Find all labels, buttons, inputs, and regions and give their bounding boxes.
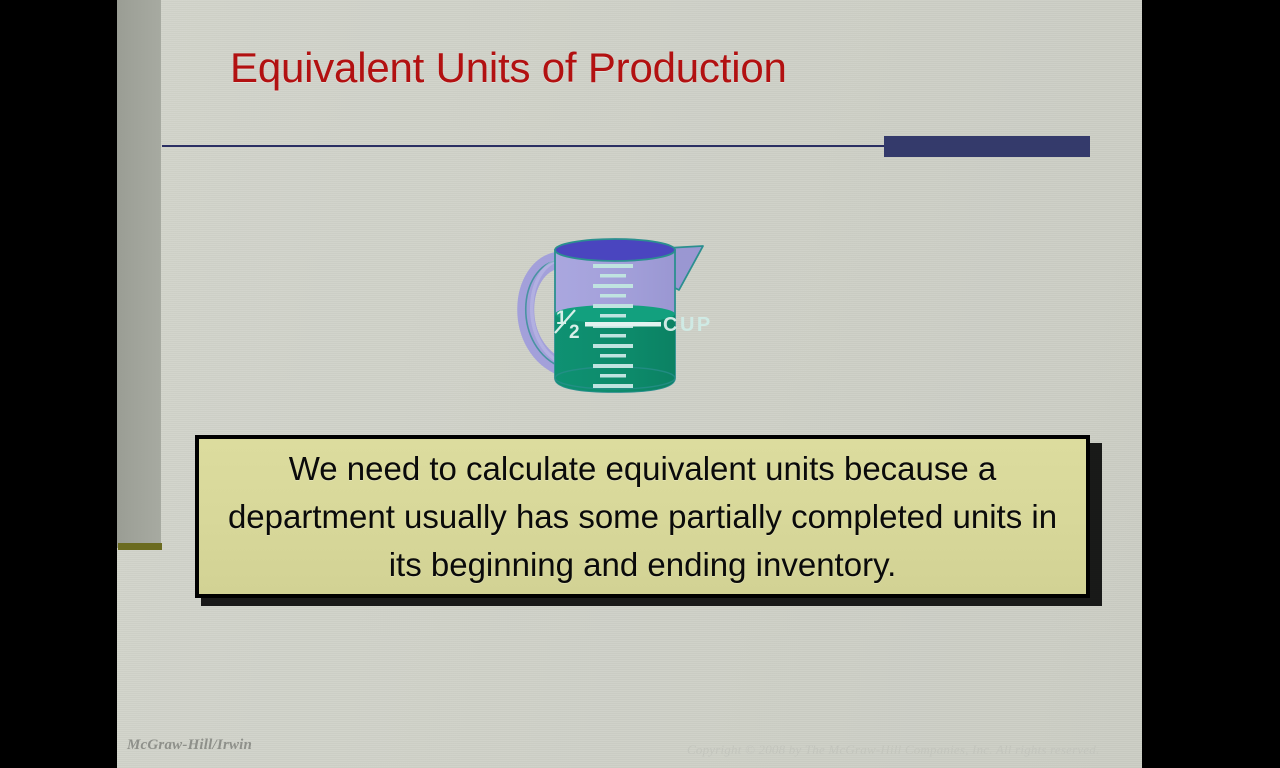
left-decorative-band [117,0,161,548]
page-title: Equivalent Units of Production [230,44,1090,92]
cup-fraction-denominator: 2 [569,322,580,343]
left-band-accent-bar [118,543,162,550]
cup-rim [555,239,675,261]
cup-half-mark-line [585,322,661,327]
footer-imprint: McGraw-Hill/Irwin [127,737,252,754]
letterbox-left [0,0,117,768]
measuring-cup-icon: 1 2 CUP [507,228,727,406]
callout-box: We need to calculate equivalent units be… [195,435,1090,598]
presentation-slide: Equivalent Units of Production [117,0,1142,768]
measuring-cup-illustration: 1 2 CUP [507,228,727,406]
callout-text: We need to calculate equivalent units be… [199,445,1086,589]
letterbox-right [1142,0,1280,768]
cup-unit-label: CUP [663,314,713,336]
slide-stage: Equivalent Units of Production [0,0,1280,768]
footer-copyright: Copyright © 2008 by The McGraw-Hill Comp… [687,742,1099,758]
title-accent-block [884,136,1090,157]
title-underline-rule [162,145,992,147]
